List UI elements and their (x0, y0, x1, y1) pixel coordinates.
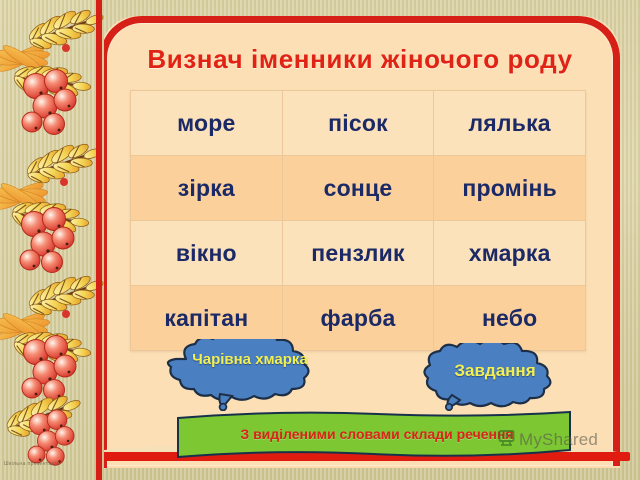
word-cell[interactable]: пензлик (282, 221, 434, 286)
myshared-watermark: MyShared (497, 428, 598, 452)
myshared-watermark-text: MyShared (519, 430, 598, 450)
word-cell[interactable]: зірка (131, 156, 283, 221)
rowan-branch-ornament (0, 0, 104, 480)
word-cell[interactable]: лялька (434, 91, 586, 156)
slide-canvas: Шкільна презентація Визнач іменники жіно… (0, 0, 640, 480)
footer-corner-text: Шкільна презентація (4, 461, 100, 470)
word-cell[interactable]: промінь (434, 156, 586, 221)
word-cell[interactable]: море (131, 91, 283, 156)
table-row: зірка сонце промінь (131, 156, 586, 221)
cloud-bubble-task[interactable]: Завдання (404, 343, 584, 411)
table-row: вікно пензлик хмарка (131, 221, 586, 286)
page-title: Визнач іменники жіночого роду (110, 40, 610, 78)
myshared-logo-icon (497, 428, 516, 452)
ornament-red-edge (96, 0, 102, 480)
word-cell[interactable]: небо (434, 286, 586, 351)
word-cell[interactable]: хмарка (434, 221, 586, 286)
cloud-bubble-magic-cloud[interactable]: Чарівна хмарка (156, 339, 332, 411)
word-cell[interactable]: сонце (282, 156, 434, 221)
noun-word-table: море пісок лялька зірка сонце промінь ві… (130, 90, 586, 351)
table-body: море пісок лялька зірка сонце промінь ві… (131, 91, 586, 351)
word-cell[interactable]: вікно (131, 221, 283, 286)
word-cell[interactable]: пісок (282, 91, 434, 156)
table-row: море пісок лялька (131, 91, 586, 156)
